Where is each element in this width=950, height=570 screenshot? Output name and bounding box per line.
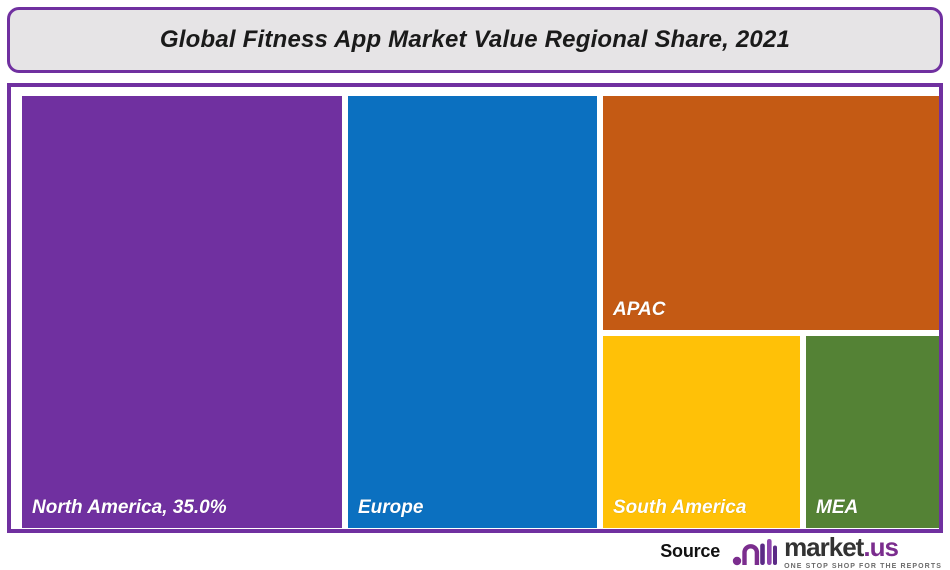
- treemap-tile-label-north-america: North America, 35.0%: [32, 497, 227, 519]
- brand-wordmark: market.us: [784, 534, 942, 560]
- treemap-tile-label-south-america: South America: [613, 497, 746, 519]
- treemap-tile-label-apac: APAC: [613, 299, 665, 321]
- treemap-tile-label-europe: Europe: [358, 497, 423, 519]
- treemap-tile-north-america[interactable]: North America, 35.0%: [22, 96, 342, 528]
- chart-title-panel: Global Fitness App Market Value Regional…: [7, 7, 943, 73]
- page-title: Global Fitness App Market Value Regional…: [160, 26, 790, 54]
- brand-logo[interactable]: market.us ONE STOP SHOP FOR THE REPORTS: [732, 534, 942, 570]
- treemap-chart: North America, 35.0% Europe APAC South A…: [22, 96, 939, 528]
- treemap-tile-europe[interactable]: Europe: [348, 96, 597, 528]
- treemap-tile-label-mea: MEA: [816, 497, 858, 519]
- source-label: Source: [660, 541, 720, 562]
- treemap-tile-apac[interactable]: APAC: [603, 96, 939, 330]
- brand-tagline: ONE STOP SHOP FOR THE REPORTS: [784, 563, 942, 570]
- treemap-tile-south-america[interactable]: South America: [603, 336, 800, 528]
- footer: Source market.us ONE STOP SHOP FOR THE R…: [0, 533, 950, 570]
- brand-name: market: [784, 532, 863, 562]
- treemap-tile-mea[interactable]: MEA: [806, 336, 939, 528]
- market-us-bars-icon: [732, 537, 778, 567]
- brand-text-wrap: market.us ONE STOP SHOP FOR THE REPORTS: [784, 534, 942, 570]
- chart-frame: North America, 35.0% Europe APAC South A…: [7, 83, 943, 533]
- brand-tld: .us: [863, 532, 898, 562]
